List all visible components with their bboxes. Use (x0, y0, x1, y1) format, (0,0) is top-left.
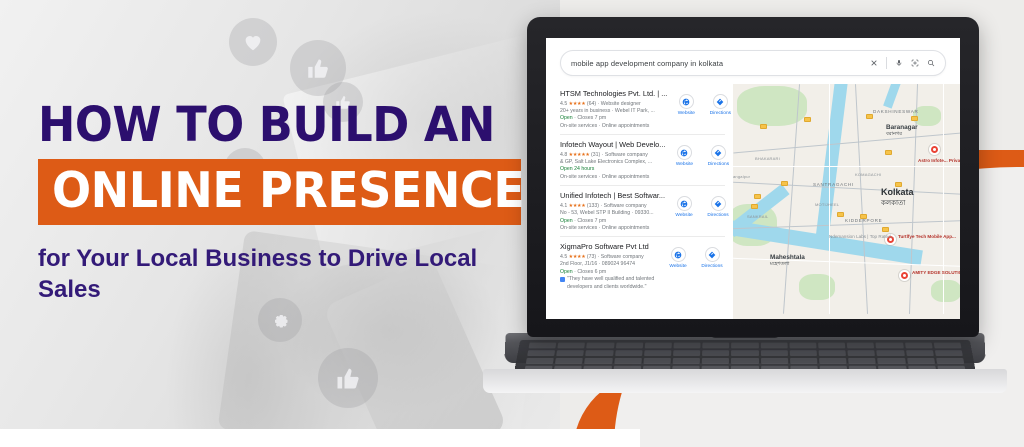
open-status: Open (560, 218, 573, 224)
business-category: Website designer (601, 101, 641, 107)
website-button[interactable]: Website (665, 247, 691, 269)
star-rating-icon: ★★★★ (569, 254, 586, 260)
keyboard-row (527, 350, 963, 356)
headline-line-1: HOW TO BUILD AN (38, 100, 494, 150)
highway-shield-icon (911, 116, 918, 121)
website-button[interactable]: Website (671, 196, 697, 218)
highway-shield-icon (882, 227, 889, 232)
business-hours-row: Open 24 hours (560, 166, 665, 173)
directions-button[interactable]: Directions (707, 94, 733, 116)
business-hours-row: Open · Closes 7 pm (560, 218, 665, 225)
website-label: Website (665, 264, 691, 269)
map-road (733, 166, 960, 167)
business-category: Software company (604, 203, 647, 209)
globe-icon (677, 196, 692, 211)
map-district-label: SANTRAGACHI (813, 182, 854, 187)
map-pin[interactable] (899, 270, 910, 281)
business-services: On-site services · Online appointments (560, 225, 665, 232)
business-detail: & GP, Salt Lake Electronics Complex, ... (560, 159, 665, 166)
directions-button[interactable]: Directions (705, 196, 731, 218)
directions-icon (705, 247, 720, 262)
website-label: Website (673, 111, 699, 116)
list-item[interactable]: HTSM Technologies Pvt. Ltd. | ... 4.5 ★★… (560, 84, 725, 135)
result-actions: Website Directions (665, 242, 725, 269)
google-lens-icon[interactable] (911, 59, 919, 67)
list-item[interactable]: Unified Infotech | Best Softwar... 4.1 ★… (560, 186, 725, 237)
banner-graphic: HOW TO BUILD AN ONLINE PRESENCE for Your… (0, 0, 1024, 447)
search-bar[interactable]: mobile app development company in kolkat… (560, 50, 946, 76)
map-area-label: angalpur (733, 174, 750, 179)
business-rating-row: 4.5 ★★★★ (73) · Software company (560, 254, 659, 261)
review-count: (31) (591, 152, 600, 158)
rating-value: 4.5 (560, 101, 567, 107)
directions-label: Directions (699, 264, 725, 269)
directions-icon (711, 145, 726, 160)
keyboard-row (529, 343, 962, 349)
directions-label: Directions (705, 213, 731, 218)
business-rating-row: 4.5 ★★★★ (64) · Website designer (560, 101, 667, 108)
globe-icon (671, 247, 686, 262)
business-rating-row: 4.1 ★★★★ (133) · Software company (560, 203, 665, 210)
map-road (733, 132, 960, 154)
result-actions: Website Directions (673, 89, 733, 116)
browser-viewport: mobile app development company in kolkat… (546, 38, 960, 319)
business-detail: No - 53, Webel STP II Building · 09330..… (560, 210, 665, 217)
globe-icon (677, 145, 692, 160)
list-item[interactable]: Infotech Wayout | Web Develo... 4.8 ★★★★… (560, 135, 725, 186)
divider (886, 57, 887, 69)
open-status: Open 24 hours (560, 166, 594, 172)
map-pin-label: Astro Infote... Private Limited (918, 158, 960, 164)
business-category: Software company (601, 254, 644, 260)
microphone-icon[interactable] (895, 59, 903, 67)
business-detail: 2nd Floor, J1/16 · 089024 96474 (560, 261, 659, 268)
local-results-list: HTSM Technologies Pvt. Ltd. | ... 4.5 ★★… (546, 84, 729, 319)
search-input[interactable]: mobile app development company in kolkat… (571, 59, 870, 68)
rating-value: 4.5 (560, 254, 567, 260)
business-hours-row: Open · Closes 7 pm (560, 115, 667, 122)
map-pin-label: Ndemansion Labs | Top Rated... (829, 234, 894, 240)
closing-time: Closes 6 pm (577, 269, 606, 275)
map-road (829, 84, 830, 314)
thumbs-up-icon (318, 348, 378, 408)
rating-value: 4.8 (560, 152, 567, 158)
search-icon[interactable] (927, 59, 935, 67)
subheadline: for Your Local Business to Drive Local S… (38, 243, 488, 305)
map-city-label: Kolkata কলকাতা (881, 187, 914, 209)
highway-shield-icon (866, 114, 873, 119)
white-bottom-strip (0, 429, 640, 447)
review-count: (73) (587, 254, 596, 260)
business-detail: 20+ years in business · Webel IT Park, .… (560, 108, 667, 115)
globe-icon (679, 94, 694, 109)
map-pin[interactable] (929, 144, 940, 155)
map-area-label: SANKRAIL (747, 214, 768, 219)
map-road (943, 84, 944, 314)
map-pin-label: AMITY EDGE SOLUTIONS (912, 270, 960, 276)
list-item[interactable]: XigmaPro Software Pvt Ltd 4.5 ★★★★ (73) … (560, 237, 725, 295)
map-river (883, 84, 902, 109)
highway-shield-icon (754, 194, 761, 199)
highway-shield-icon (837, 212, 844, 217)
directions-icon (713, 94, 728, 109)
directions-button[interactable]: Directions (705, 145, 731, 167)
star-rating-icon: ★★★★ (569, 101, 586, 107)
headline-highlight-band: ONLINE PRESENCE (38, 159, 521, 225)
website-label: Website (671, 213, 697, 218)
laptop-lid: mobile app development company in kolkat… (527, 17, 979, 337)
highway-shield-icon (760, 124, 767, 129)
heart-icon (229, 18, 277, 66)
map-district-label: KIDDERPORE (845, 218, 882, 223)
result-actions: Website Directions (671, 140, 731, 167)
map-pin-label: Turtlfye Tech Mobile App... (898, 234, 956, 240)
directions-icon (711, 196, 726, 211)
closing-time: Closes 7 pm (577, 115, 606, 121)
close-icon[interactable] (870, 59, 878, 67)
review-quote-text: "They have well qualified and talented d… (567, 276, 659, 291)
headline-block: HOW TO BUILD AN ONLINE PRESENCE for Your… (38, 100, 528, 305)
map-town-label: Baranagar বরানগর (886, 124, 918, 139)
search-results-and-map: HTSM Technologies Pvt. Ltd. | ... 4.5 ★★… (546, 84, 960, 319)
business-services: On-site services · Online appointments (560, 174, 665, 181)
business-name[interactable]: Unified Infotech | Best Softwar... (560, 191, 665, 200)
business-name[interactable]: Infotech Wayout | Web Develo... (560, 140, 665, 149)
star-rating-icon: ★★★★★ (569, 152, 590, 158)
review-count: (133) (587, 203, 599, 209)
highway-shield-icon (885, 150, 892, 155)
map-town-label: Maheshtala মহেশতলা (770, 254, 805, 269)
business-category: Software company (605, 152, 648, 158)
highway-shield-icon (804, 117, 811, 122)
star-rating-icon: ★★★★ (569, 203, 586, 209)
business-name[interactable]: XigmaPro Software Pvt Ltd (560, 242, 659, 251)
map-road (733, 258, 960, 267)
highway-shield-icon (751, 204, 758, 209)
business-services: On-site services · Online appointments (560, 123, 667, 130)
keyboard-row (526, 358, 964, 364)
review-count: (64) (587, 101, 596, 107)
review-source-icon (560, 277, 565, 282)
website-label: Website (671, 162, 697, 167)
closing-time: Closes 7 pm (577, 218, 606, 224)
highway-shield-icon (781, 181, 788, 186)
business-hours-row: Open · Closes 6 pm (560, 269, 659, 276)
headline-line-2: ONLINE PRESENCE (52, 166, 483, 216)
open-status: Open (560, 115, 573, 121)
website-button[interactable]: Website (671, 145, 697, 167)
result-actions: Website Directions (671, 191, 731, 218)
directions-label: Directions (705, 162, 731, 167)
map-panel[interactable]: DAKSHINESWAR Baranagar বরানগর Kolkata কল… (733, 84, 960, 319)
map-area-label: BHAKARARI (755, 156, 780, 161)
rating-value: 4.1 (560, 203, 567, 209)
directions-label: Directions (707, 111, 733, 116)
map-green-area (931, 280, 960, 302)
directions-button[interactable]: Directions (699, 247, 725, 269)
business-name[interactable]: HTSM Technologies Pvt. Ltd. | ... (560, 89, 667, 98)
website-button[interactable]: Website (673, 94, 699, 116)
laptop-palmrest (483, 369, 1007, 393)
business-rating-row: 4.8 ★★★★★ (31) · Software company (560, 152, 665, 159)
laptop-mockup: mobile app development company in kolkat… (505, 17, 985, 397)
map-area-label: MOTIJHEEL (815, 202, 839, 207)
review-snippet: "They have well qualified and talented d… (560, 276, 659, 291)
open-status: Open (560, 269, 573, 275)
map-area-label: KOMAGACHI (855, 172, 881, 177)
map-district-label: DAKSHINESWAR (873, 109, 919, 114)
